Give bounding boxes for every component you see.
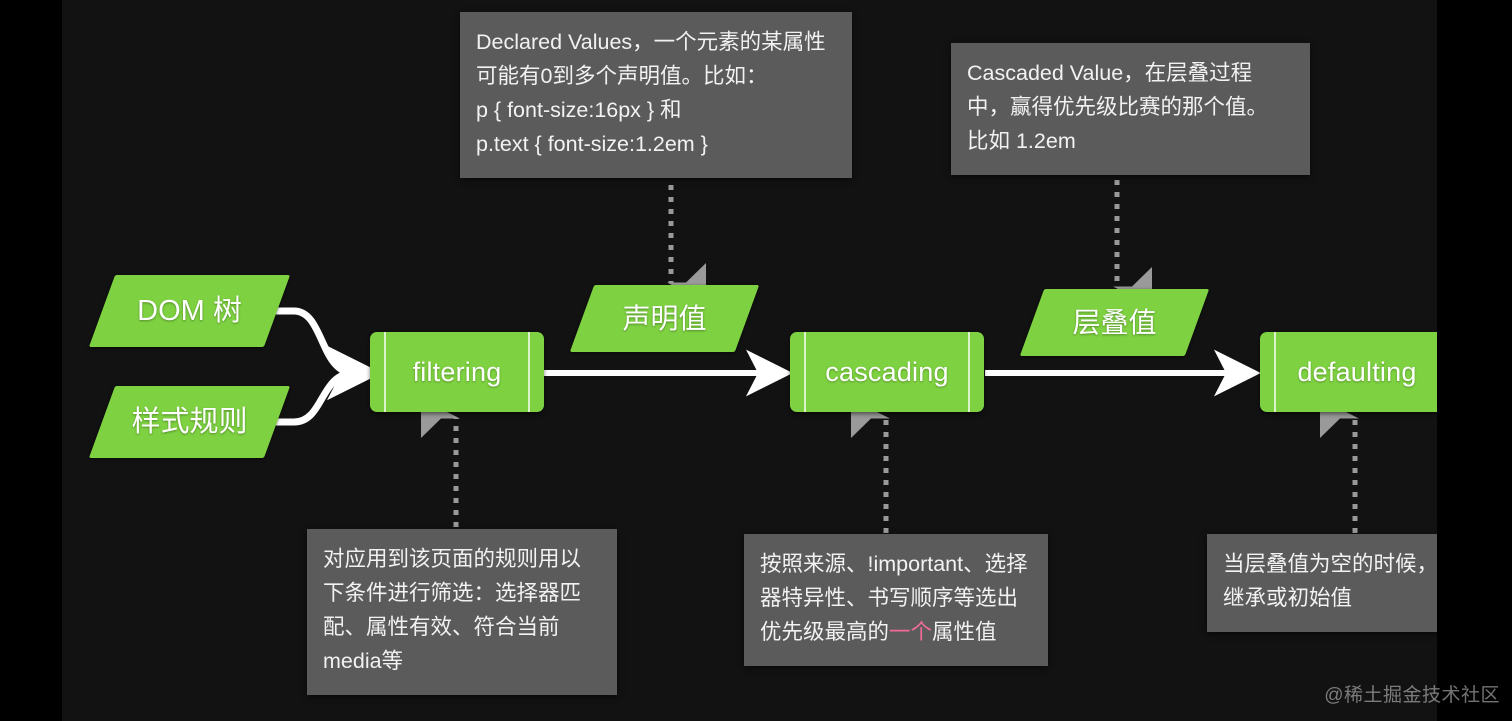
- diagram-area: DOM 树 样式规则 声明值 层叠值 filtering cascading d…: [62, 0, 1437, 721]
- stage-cascading-label: cascading: [790, 332, 984, 412]
- value-declared[interactable]: 声明值: [570, 285, 759, 352]
- value-cascaded[interactable]: 层叠值: [1020, 289, 1209, 356]
- slide-canvas: DOM 树 样式规则 声明值 层叠值 filtering cascading d…: [0, 0, 1512, 721]
- callout-cascading-note: 按照来源、!important、选择器特异性、书写顺序等选出优先级最高的一个属性…: [744, 534, 1048, 666]
- input-style-rules[interactable]: 样式规则: [89, 386, 290, 458]
- cascading-note-highlight: 一个: [889, 620, 932, 644]
- input-dom-tree-label: DOM 树: [102, 275, 277, 347]
- value-declared-label: 声明值: [582, 285, 747, 352]
- callout-filtering-note: 对应用到该页面的规则用以下条件进行筛选：选择器匹配、属性有效、符合当前media…: [307, 529, 617, 695]
- value-cascaded-label: 层叠值: [1032, 289, 1197, 356]
- stage-defaulting[interactable]: defaulting: [1260, 332, 1437, 412]
- stage-filtering[interactable]: filtering: [370, 332, 544, 412]
- letterbox-left: [0, 0, 62, 721]
- stage-filtering-label: filtering: [370, 332, 544, 412]
- callout-defaulting-note: 当层叠值为空的时候，继承或初始值: [1207, 534, 1437, 632]
- stage-defaulting-label: defaulting: [1260, 332, 1437, 412]
- input-style-rules-label: 样式规则: [102, 386, 277, 458]
- callout-cascaded-value: Cascaded Value，在层叠过程中，赢得优先级比赛的那个值。 比如 1.…: [951, 43, 1310, 175]
- input-dom-tree[interactable]: DOM 树: [89, 275, 290, 347]
- watermark: @稀土掘金技术社区: [1324, 680, 1500, 707]
- letterbox-right: [1437, 0, 1512, 721]
- stage-cascading[interactable]: cascading: [790, 332, 984, 412]
- cascading-note-post: 属性值: [932, 620, 997, 644]
- callout-declared-values: Declared Values，一个元素的某属性可能有0到多个声明值。比如： p…: [460, 12, 852, 178]
